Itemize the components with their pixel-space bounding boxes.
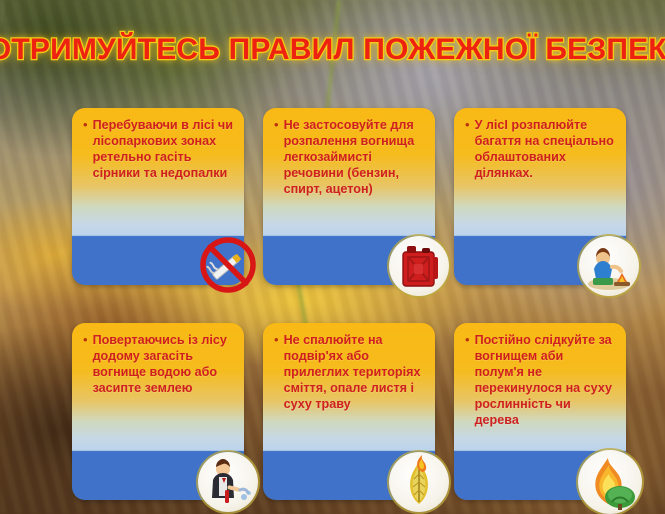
firefighter-icon	[198, 452, 258, 512]
safety-card-1-message: Перебуваючи в лісі чи лісопаркових зонах…	[93, 117, 234, 181]
safety-card-5-message: Не спалюйте на подвір'ях або прилеглих т…	[284, 332, 425, 412]
bullet-icon: •	[274, 332, 284, 412]
campfire-child-icon	[579, 236, 639, 296]
safety-card-4: • Повертаючись із лісу додому загасіть в…	[72, 323, 244, 500]
safety-card-3-text: • У лісI розпалюйте багаття на спеціальн…	[454, 108, 626, 181]
safety-card-5-text: • Не спалюйте на подвір'ях або прилеглих…	[263, 323, 435, 412]
safety-card-2-message: Не застосовуйте для розпалення вогнища л…	[284, 117, 425, 197]
bullet-icon: •	[465, 117, 475, 181]
safety-card-3-message: У лісI розпалюйте багаття на спеціально …	[475, 117, 616, 181]
safety-card-2-text: • Не застосовуйте для розпалення вогнища…	[263, 108, 435, 197]
poster-title-band: ДОТРИМУЙТЕСЬ ПРАВИЛ ПОЖЕЖНОЇ БЕЗПЕКИ!	[0, 22, 665, 78]
safety-card-1: • Перебуваючи в лісі чи лісопаркових зон…	[72, 108, 244, 285]
safety-card-4-text: • Повертаючись із лісу додому загасіть в…	[72, 323, 244, 396]
fuel-can-icon	[389, 236, 449, 296]
safety-card-2: • Не застосовуйте для розпалення вогнища…	[263, 108, 435, 285]
safety-card-5: • Не спалюйте на подвір'ях або прилеглих…	[263, 323, 435, 500]
fire-safety-poster: ДОТРИМУЙТЕСЬ ПРАВИЛ ПОЖЕЖНОЇ БЕЗПЕКИ! • …	[0, 0, 665, 514]
burning-leaf-icon	[389, 452, 449, 512]
safety-card-6-text: • Постійно слідкуйте за вогнищем аби пол…	[454, 323, 626, 429]
safety-card-6: • Постійно слідкуйте за вогнищем аби пол…	[454, 323, 626, 500]
flame-bush-icon	[578, 450, 642, 514]
bullet-icon: •	[83, 332, 93, 396]
bullet-icon: •	[465, 332, 475, 429]
safety-card-4-message: Повертаючись із лісу додому загасіть вог…	[93, 332, 234, 396]
safety-card-3: • У лісI розпалюйте багаття на спеціальн…	[454, 108, 626, 285]
poster-title: ДОТРИМУЙТЕСЬ ПРАВИЛ ПОЖЕЖНОЇ БЕЗПЕКИ!	[0, 33, 665, 67]
safety-card-1-text: • Перебуваючи в лісі чи лісопаркових зон…	[72, 108, 244, 181]
safety-card-6-message: Постійно слідкуйте за вогнищем аби полум…	[475, 332, 616, 429]
bullet-icon: •	[83, 117, 93, 181]
no-smoking-icon	[196, 233, 260, 297]
bullet-icon: •	[274, 117, 284, 197]
